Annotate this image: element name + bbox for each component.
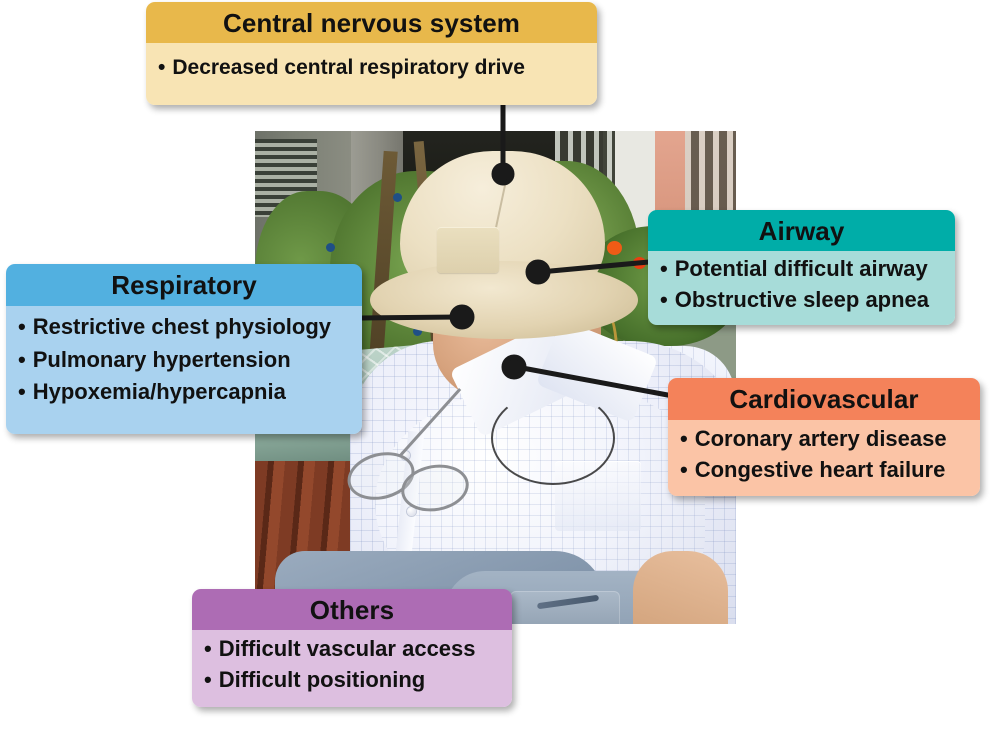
figure-canvas: Central nervous system • Decreased centr… <box>0 0 1000 737</box>
photo-shorts-pocket <box>510 591 620 624</box>
bullet-item: • Potential difficult airway <box>660 256 945 282</box>
bullet-glyph: • <box>204 636 212 662</box>
bullet-text: Restrictive chest physiology <box>33 314 331 340</box>
bullet-item: • Coronary artery disease <box>680 426 970 452</box>
photo-berry <box>326 243 335 252</box>
callout-header: Others <box>192 589 512 630</box>
bullet-glyph: • <box>660 256 668 282</box>
photo-berry <box>393 193 402 202</box>
bullet-item: • Difficult vascular access <box>204 636 502 662</box>
callout-body: • Coronary artery disease • Congestive h… <box>668 420 980 496</box>
bullet-item: • Pulmonary hypertension <box>18 347 352 373</box>
bullet-text: Obstructive sleep apnea <box>675 287 929 313</box>
photo-hat-pocket <box>437 227 499 273</box>
callout-body: • Decreased central respiratory drive <box>146 43 597 105</box>
photo-eyeglass-cord <box>491 391 615 485</box>
callout-respiratory[interactable]: Respiratory • Restrictive chest physiolo… <box>6 264 362 434</box>
bullet-item: • Decreased central respiratory drive <box>158 50 587 80</box>
callout-others[interactable]: Others • Difficult vascular access • Dif… <box>192 589 512 707</box>
bullet-text: Hypoxemia/hypercapnia <box>33 379 286 405</box>
bullet-text: Congestive heart failure <box>695 457 946 483</box>
bullet-glyph: • <box>204 667 212 693</box>
bullet-glyph: • <box>158 56 165 80</box>
bullet-glyph: • <box>18 314 26 340</box>
bullet-text: Pulmonary hypertension <box>33 347 291 373</box>
bullet-glyph: • <box>660 287 668 313</box>
callout-header: Cardiovascular <box>668 378 980 420</box>
bullet-text: Coronary artery disease <box>695 426 947 452</box>
photo-flower <box>607 241 622 255</box>
callout-body: • Difficult vascular access • Difficult … <box>192 630 512 707</box>
bullet-item: • Obstructive sleep apnea <box>660 287 945 313</box>
bullet-item: • Congestive heart failure <box>680 457 970 483</box>
callout-header: Central nervous system <box>146 2 597 43</box>
callout-body: • Potential difficult airway • Obstructi… <box>648 251 955 325</box>
bullet-item: • Restrictive chest physiology <box>18 314 352 340</box>
callout-airway[interactable]: Airway • Potential difficult airway • Ob… <box>648 210 955 325</box>
bullet-text: Difficult positioning <box>219 667 426 693</box>
bullet-glyph: • <box>18 379 26 405</box>
photo-flower <box>633 257 646 269</box>
bullet-glyph: • <box>18 347 26 373</box>
bullet-text: Difficult vascular access <box>219 636 476 662</box>
callout-body: • Restrictive chest physiology • Pulmona… <box>6 306 362 434</box>
callout-central-nervous-system[interactable]: Central nervous system • Decreased centr… <box>146 2 597 105</box>
bullet-item: • Difficult positioning <box>204 667 502 693</box>
callout-header: Respiratory <box>6 264 362 306</box>
bullet-text: Decreased central respiratory drive <box>172 56 525 80</box>
bullet-item: • Hypoxemia/hypercapnia <box>18 379 352 405</box>
callout-header: Airway <box>648 210 955 251</box>
callout-cardiovascular[interactable]: Cardiovascular • Coronary artery disease… <box>668 378 980 496</box>
bullet-text: Potential difficult airway <box>675 256 928 282</box>
photo-hat-brim <box>370 261 638 339</box>
bullet-glyph: • <box>680 426 688 452</box>
photo-forearm <box>633 551 728 624</box>
bullet-glyph: • <box>680 457 688 483</box>
